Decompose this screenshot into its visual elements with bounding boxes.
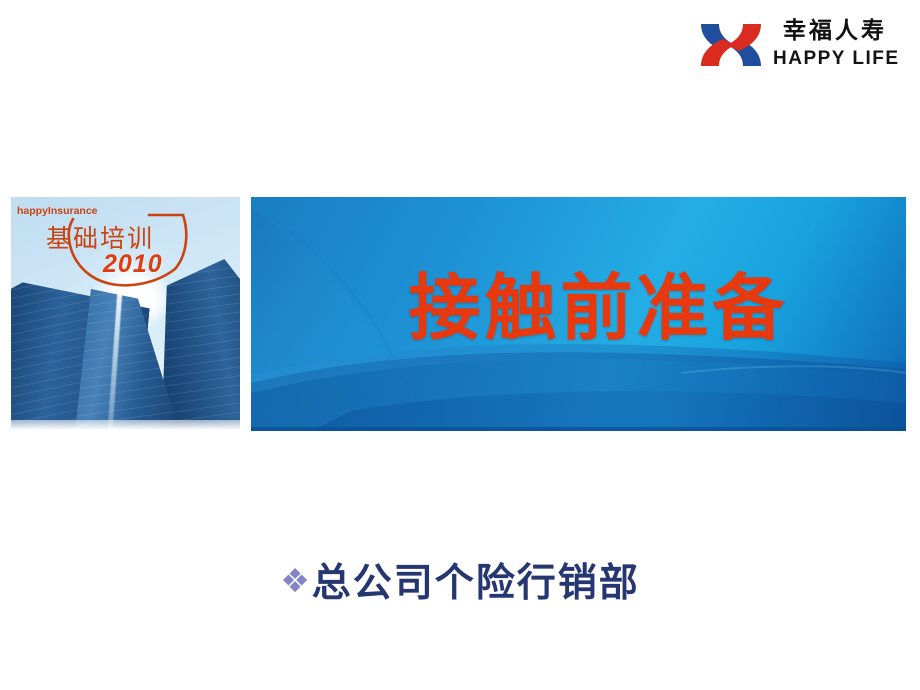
training-cover-photo: happyInsurance 基础培训 2010 (11, 197, 240, 430)
company-logo: 幸福人寿 HAPPY LIFE (697, 16, 897, 80)
logo-company-name-en: HAPPY LIFE (773, 46, 897, 72)
brand-tagline: happyInsurance (17, 205, 98, 217)
program-year: 2010 (103, 250, 163, 279)
logo-company-name-cn: 幸福人寿 (773, 16, 897, 46)
department-line: ❖总公司个险行销部 (0, 552, 920, 608)
slide-title: 接触前准备 (251, 265, 906, 351)
diamond-bullet-icon: ❖ (280, 561, 310, 600)
title-banner: 接触前准备 (251, 197, 906, 431)
happy-life-x-mark-icon (697, 18, 765, 72)
building-right (161, 259, 240, 430)
photo-bottom-fade (11, 420, 240, 430)
department-label: 总公司个险行销部 (312, 560, 640, 606)
glass-lines (161, 259, 240, 430)
logo-wordmark: 幸福人寿 HAPPY LIFE (773, 16, 897, 78)
